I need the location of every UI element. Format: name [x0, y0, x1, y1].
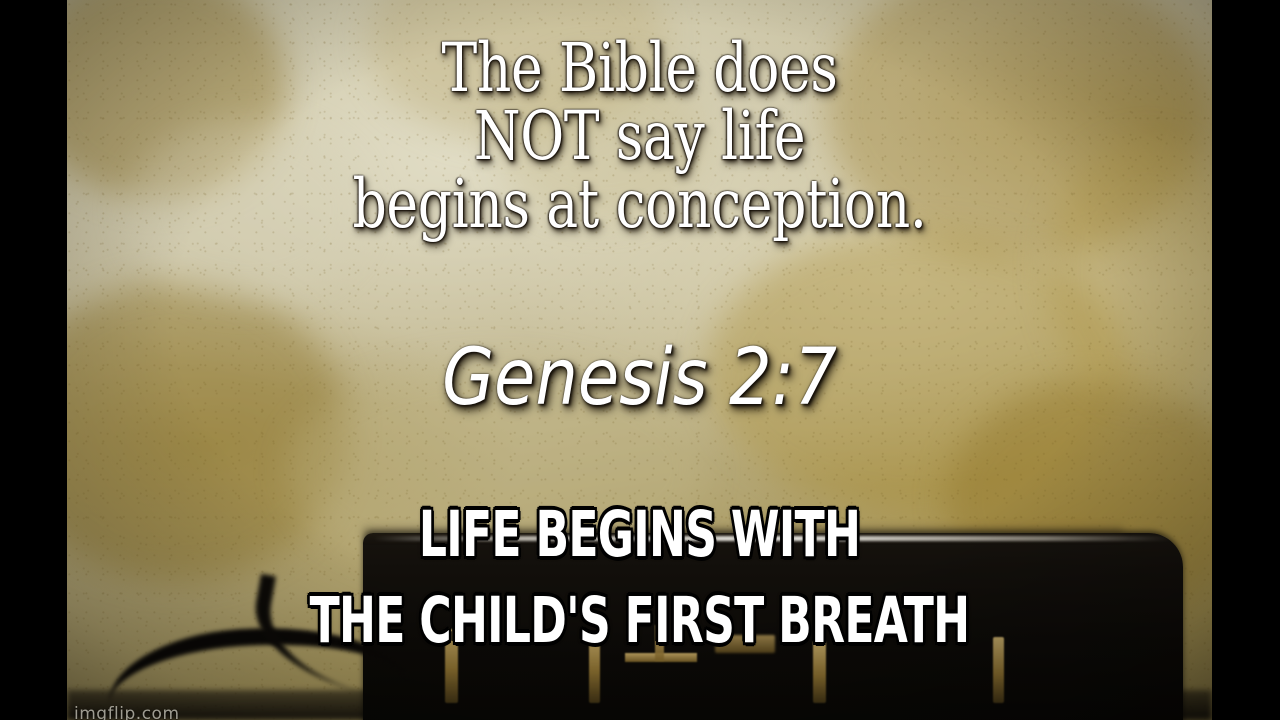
- bottom-caption-block: LIFE BEGINS WITH THE CHILD'S FIRST BREAT…: [67, 492, 1212, 664]
- bottom-caption-line-2: THE CHILD'S FIRST BREATH: [239, 578, 1041, 664]
- top-caption-line-1: The Bible does: [182, 34, 1098, 102]
- scripture-reference: Genesis 2:7: [147, 336, 1132, 420]
- letterbox-bar-right: [1212, 0, 1280, 720]
- top-caption-line-3: begins at conception.: [182, 170, 1098, 238]
- letterbox-bar-left: [0, 0, 67, 720]
- meme-image-canvas: The Bible does NOT say life begins at co…: [0, 0, 1280, 720]
- bottom-caption-line-1: LIFE BEGINS WITH: [239, 492, 1041, 578]
- scripture-reference-block: Genesis 2:7: [67, 336, 1212, 420]
- imgflip-watermark: imgflip.com: [74, 706, 180, 720]
- top-caption-block: The Bible does NOT say life begins at co…: [67, 34, 1212, 238]
- top-caption-line-2: NOT say life: [182, 102, 1098, 170]
